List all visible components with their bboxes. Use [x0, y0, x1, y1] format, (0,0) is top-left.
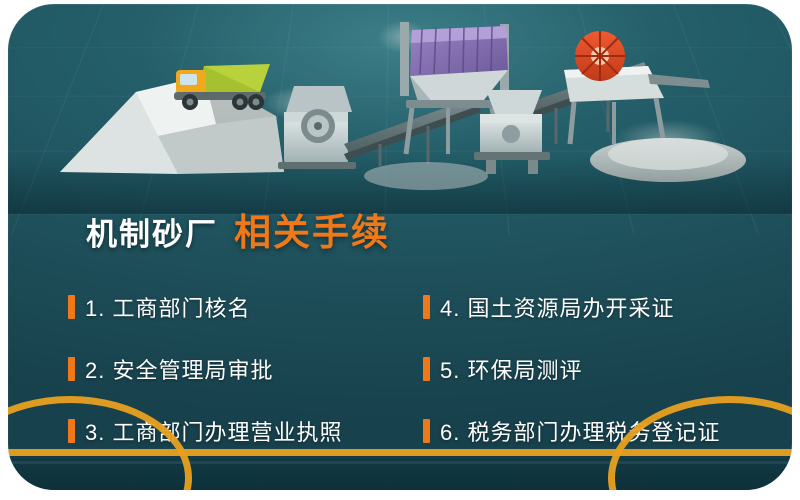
sand-pile-icon	[364, 138, 746, 190]
bullet-marker	[423, 295, 430, 319]
bullet-marker	[68, 357, 75, 381]
bullet-marker	[68, 295, 75, 319]
list-item-label: 5. 环保局测评	[440, 353, 582, 385]
jaw-crusher-icon	[278, 86, 356, 169]
list-item-label: 2. 安全管理局审批	[85, 353, 273, 385]
list-item-label: 4. 国土资源局办开采证	[440, 291, 674, 323]
list-item: 4. 国土资源局办开采证	[423, 291, 758, 323]
screenshot-root: 机制砂厂 相关手续 1. 工商部门核名 4. 国土资源局办开采证 2. 安全管理…	[0, 0, 800, 500]
list-item: 2. 安全管理局审批	[68, 353, 423, 385]
title-orange-part: 相关手续	[234, 202, 390, 256]
list-item: 1. 工商部门核名	[68, 291, 423, 323]
main-panel: 机制砂厂 相关手续 1. 工商部门核名 4. 国土资源局办开采证 2. 安全管理…	[8, 4, 792, 490]
bullet-marker	[423, 419, 430, 443]
list-item-label: 1. 工商部门核名	[85, 291, 250, 323]
title-white-part: 机制砂厂	[86, 209, 218, 254]
page-title: 机制砂厂 相关手续	[86, 202, 390, 256]
list-item: 5. 环保局测评	[423, 353, 758, 385]
bullet-marker	[423, 357, 430, 381]
production-line-illustration	[8, 4, 792, 204]
scene-svg	[8, 4, 792, 204]
sand-washing-machine-icon	[564, 31, 710, 144]
